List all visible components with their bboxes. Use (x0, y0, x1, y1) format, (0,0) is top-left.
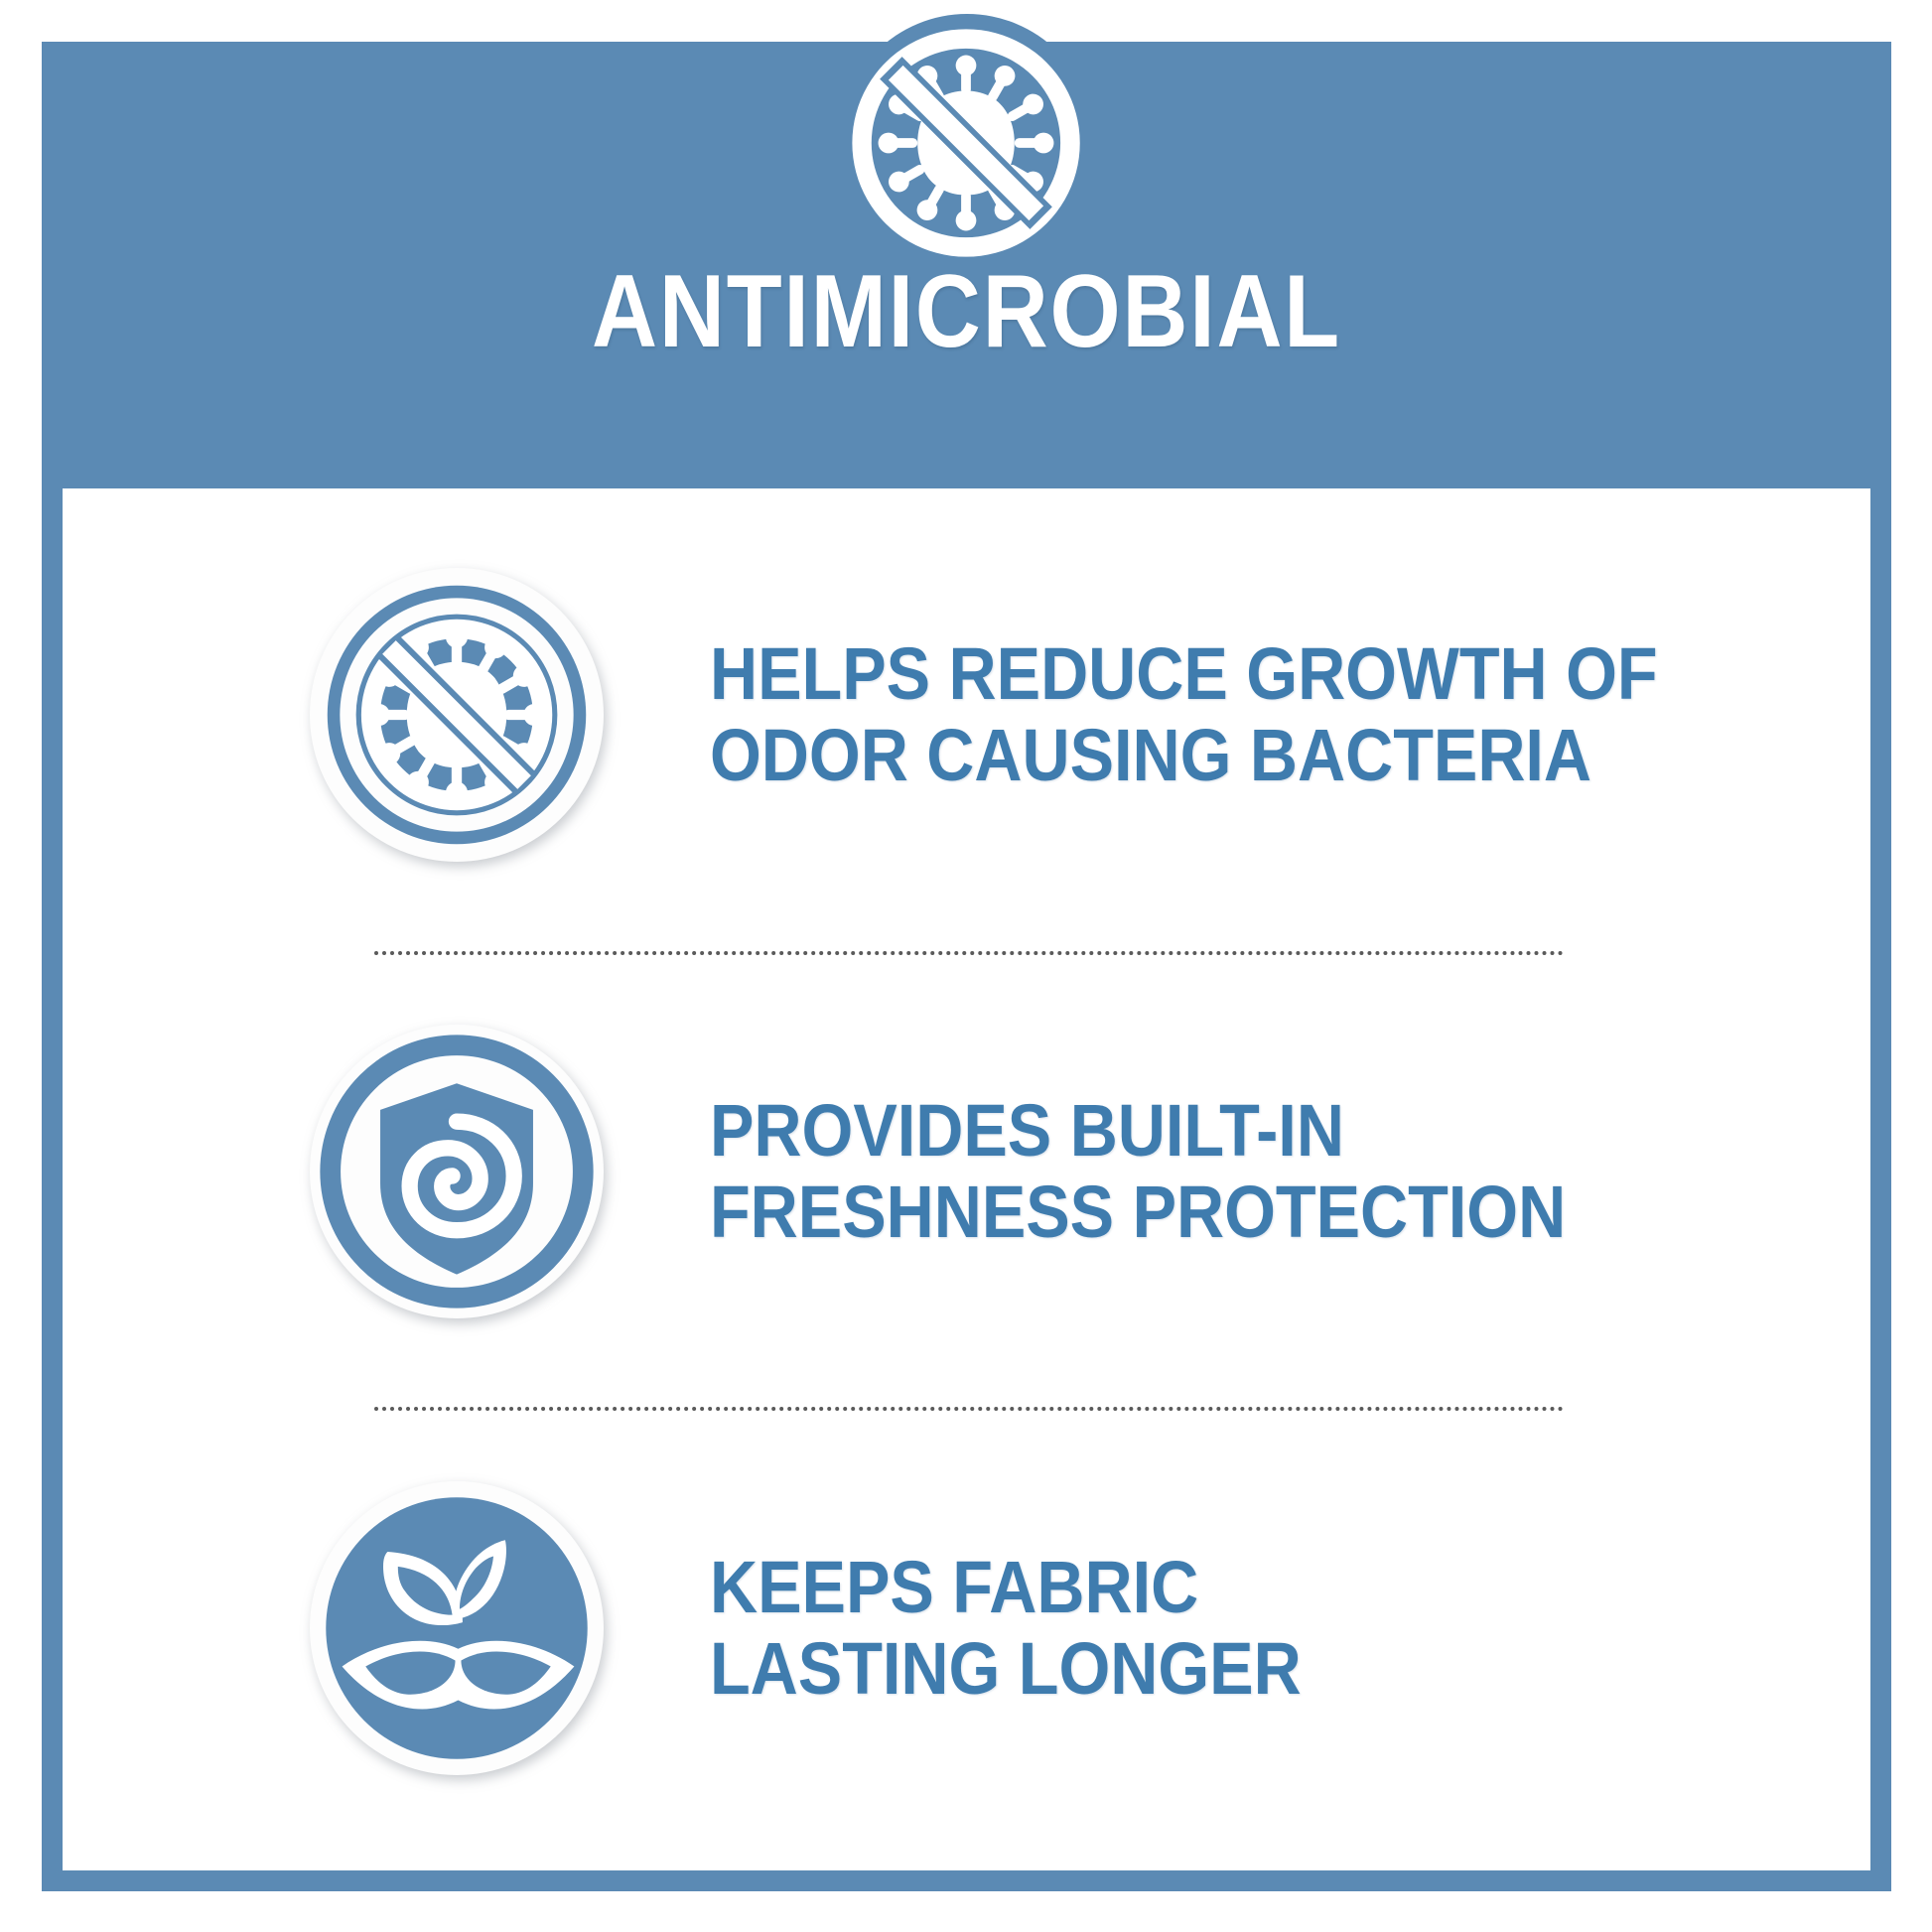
feature-text: KEEPS FABRIC LASTING LONGER (710, 1547, 1367, 1710)
feature-row: KEEPS FABRIC LASTING LONGER (63, 1420, 1870, 1837)
divider (374, 1407, 1564, 1411)
feature-row: PROVIDES BUILT-IN FRESHNESS PROTECTION (63, 963, 1870, 1380)
no-germ-icon (310, 568, 604, 862)
leaf-sprout-icon (310, 1481, 604, 1775)
feature-row: HELPS REDUCE GROWTH OF ODOR CAUSING BACT… (63, 506, 1870, 923)
feature-line-2: ODOR CAUSING BACTERIA (710, 715, 1658, 796)
page-title: ANTIMICROBIAL (153, 260, 1780, 363)
features-panel: HELPS REDUCE GROWTH OF ODOR CAUSING BACT… (63, 488, 1870, 1870)
shield-swirl-icon (310, 1025, 604, 1318)
divider (374, 951, 1564, 955)
feature-line-1: KEEPS FABRIC (710, 1547, 1302, 1628)
feature-line-2: FRESHNESS PROTECTION (710, 1172, 1566, 1253)
feature-text: PROVIDES BUILT-IN FRESHNESS PROTECTION (710, 1090, 1661, 1253)
feature-line-1: PROVIDES BUILT-IN (710, 1090, 1566, 1172)
antimicrobial-infographic: ANTIMICROBIAL (0, 0, 1932, 1932)
feature-line-1: HELPS REDUCE GROWTH OF (710, 633, 1658, 715)
feature-line-2: LASTING LONGER (710, 1628, 1302, 1710)
feature-text: HELPS REDUCE GROWTH OF ODOR CAUSING BACT… (710, 633, 1763, 796)
no-germ-icon (845, 22, 1087, 264)
